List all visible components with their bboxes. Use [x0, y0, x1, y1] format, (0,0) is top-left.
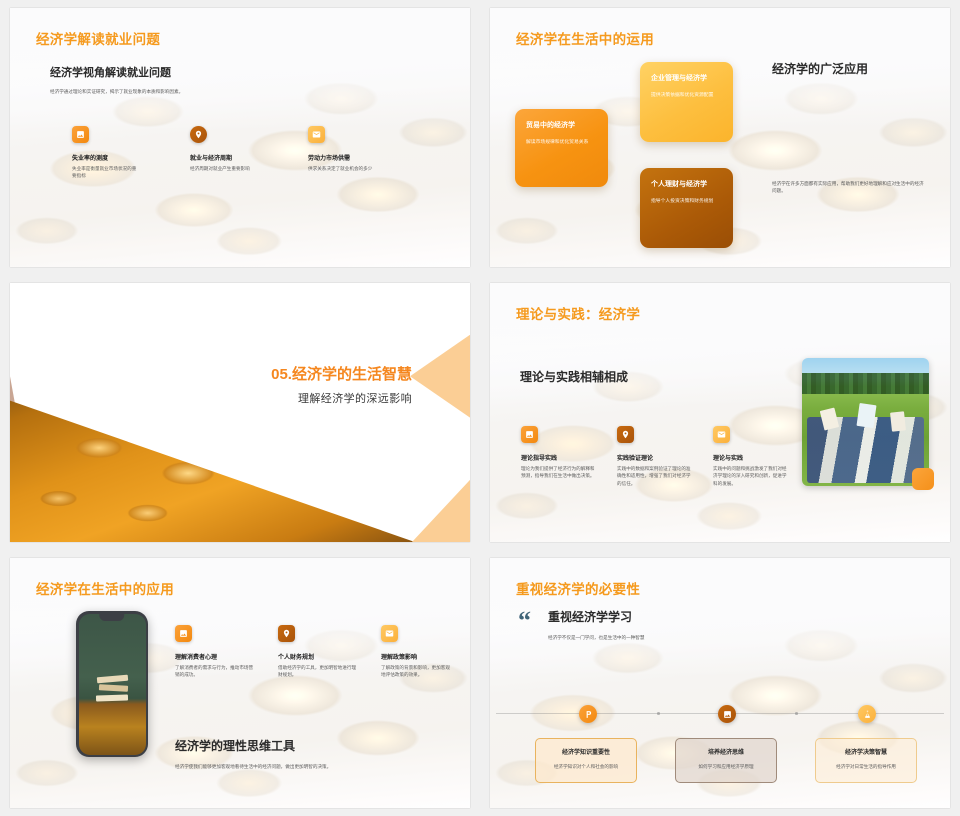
feature-title: 理解政策影响 — [381, 652, 470, 661]
feature-item[interactable]: 理论与实践 实践中的问题和挑战激发了我们对经济学理论的深入研究和创新，促进学科的… — [713, 426, 809, 487]
location-pin-icon — [278, 625, 295, 642]
slide-title: 经济学解读就业问题 — [36, 28, 160, 48]
feature-desc: 了解政策的背景和影响，更加客观地评估政策的效果。 — [381, 664, 453, 679]
card-title: 个人理财与经济学 — [651, 179, 722, 189]
slide-title: 理论与实践：经济学 — [516, 303, 640, 323]
phone-book — [98, 685, 128, 693]
section-number: 05. — [271, 366, 292, 383]
phone-book — [97, 674, 128, 683]
slide-subtext: 经济学通过理论和实证研究，揭示了就业现象的本质和影响因素。 — [50, 88, 183, 95]
envelope-icon — [308, 126, 325, 143]
slide-section-divider[interactable]: 05.经济学的生活智慧 理解经济学的深远影响 — [10, 283, 470, 542]
slide-economics-in-life[interactable]: 经济学在生活中的运用 贸易中的经济学 解读市场规律和优化贸易关系 企业管理与经济… — [490, 8, 950, 267]
slide-heading: 经济学的理性思维工具 — [175, 737, 331, 754]
slide-subtext: 经济学使我们能够更加客观地看待生活中的经济问题，做出更加明智的决策。 — [175, 763, 331, 770]
card-desc: 指导个人投资决策和财务规划 — [651, 198, 722, 206]
students-reading-photo — [802, 358, 929, 486]
slide-applications-in-life[interactable]: 经济学在生活中的应用 理解消费者心理 了解消费者的需求与行为，推动市场营销的成功… — [10, 558, 470, 808]
slide-necessity-of-economics[interactable]: 重视经济学的必要性 “ 重视经济学学习 经济学不仅是一门学问，也是生活中的一种智… — [490, 558, 950, 808]
slide-4-wrapper: 理论与实践：经济学 理论与实践相辅相成 理论指导实践 理论为我们提供了经济行为的… — [480, 275, 960, 550]
feature-desc: 经济周期对就业产生重要影响 — [190, 165, 260, 172]
quote-subtext: 经济学不仅是一门学问，也是生活中的一种智慧 — [548, 634, 644, 641]
right-top-triangle-decoration — [410, 335, 470, 418]
feature-item[interactable]: 理解政策影响 了解政策的背景和影响，更加客观地评估政策的效果。 — [381, 625, 470, 679]
phone-notch — [99, 614, 124, 621]
feature-title: 理论与实践 — [713, 453, 809, 462]
phone-screen — [79, 614, 146, 755]
bottom-card-thinking[interactable]: 培养经济思维 如何学习和应用经济学原理 — [675, 738, 777, 783]
feature-title: 理论指导实践 — [521, 453, 617, 462]
image-icon — [521, 426, 538, 443]
slide-heading: 理论与实践相辅相成 — [520, 368, 628, 385]
feature-desc: 借助经济学的工具，更加明智地进行理财规划。 — [278, 664, 358, 679]
location-pin-icon — [617, 426, 634, 443]
quote-heading: 重视经济学学习 — [548, 608, 644, 625]
envelope-icon — [381, 625, 398, 642]
slide-5-wrapper: 经济学在生活中的应用 理解消费者心理 了解消费者的需求与行为，推动市场营销的成功… — [0, 550, 480, 816]
feature-desc: 实践中的数据和案例验证了理论的准确性和适用性，增强了我们对经济学的信任。 — [617, 465, 692, 487]
envelope-icon — [713, 426, 730, 443]
card-business-management[interactable]: 企业管理与经济学 提供决策依据和优化资源配置 — [640, 62, 733, 142]
divider-title-block: 05.经济学的生活智慧 理解经济学的深远影响 — [271, 363, 412, 406]
feature-desc: 失业率是衡量就业市场状况的重要指标 — [72, 165, 140, 180]
timeline-dot — [795, 712, 798, 715]
slide-5-summary-block: 经济学的理性思维工具 经济学使我们能够更加客观地看待生活中的经济问题，做出更加明… — [175, 737, 331, 770]
feature-desc: 了解消费者的需求与行为，推动市场营销的成功。 — [175, 664, 255, 679]
slide-1-text-block: 经济学视角解读就业问题 经济学通过理论和实证研究，揭示了就业现象的本质和影响因素… — [50, 64, 183, 95]
card-trade-economics[interactable]: 贸易中的经济学 解读市场规律和优化贸易关系 — [515, 109, 608, 187]
photo-book — [856, 403, 876, 428]
feature-title: 理解消费者心理 — [175, 652, 278, 661]
slide-2-wrapper: 经济学在生活中的运用 贸易中的经济学 解读市场规律和优化贸易关系 企业管理与经济… — [480, 0, 960, 275]
image-icon — [72, 126, 89, 143]
feature-item[interactable]: 就业与经济周期 经济周期对就业产生重要影响 — [190, 126, 308, 180]
photo-book — [890, 411, 906, 432]
slide-1-wrapper: 经济学解读就业问题 经济学视角解读就业问题 经济学通过理论和实证研究，揭示了就业… — [0, 0, 480, 275]
feature-desc: 实践中的问题和挑战激发了我们对经济学理论的深入研究和创新，促进学科的发展。 — [713, 465, 788, 487]
card-desc: 提供决策依据和优化资源配置 — [651, 92, 722, 100]
feature-title: 个人财务规划 — [278, 652, 381, 661]
photo-treeline — [802, 373, 929, 393]
slide-employment-economics[interactable]: 经济学解读就业问题 经济学视角解读就业问题 经济学通过理论和实证研究，揭示了就业… — [10, 8, 470, 267]
slide-3-wrapper: 05.经济学的生活智慧 理解经济学的深远影响 — [0, 275, 480, 550]
feature-desc: 理论为我们提供了经济行为的解释和预测，指导我们在生活中做出决策。 — [521, 465, 596, 480]
card-desc: 经济学知识对个人和社会的影响 — [543, 763, 629, 770]
slide-deck: 经济学解读就业问题 经济学视角解读就业问题 经济学通过理论和实证研究，揭示了就业… — [0, 0, 960, 816]
pin-marker-icon — [579, 705, 597, 723]
card-title: 贸易中的经济学 — [526, 120, 597, 130]
feature-item[interactable]: 失业率的测度 失业率是衡量就业市场状况的重要指标 — [72, 126, 190, 180]
divider-title-line: 05.经济学的生活智慧 — [271, 363, 412, 384]
card-title: 企业管理与经济学 — [651, 73, 722, 83]
image-icon — [718, 705, 736, 723]
feature-item[interactable]: 理论指导实践 理论为我们提供了经济行为的解释和预测，指导我们在生活中做出决策。 — [521, 426, 617, 487]
image-icon — [175, 625, 192, 642]
location-pin-icon — [190, 126, 207, 143]
card-title: 培养经济思维 — [683, 747, 769, 756]
quote-block: 重视经济学学习 经济学不仅是一门学问，也是生活中的一种智慧 — [548, 608, 644, 641]
card-title: 经济学知识重要性 — [543, 747, 629, 756]
phone-mockup — [76, 611, 148, 757]
feature-title: 实践验证理论 — [617, 453, 713, 462]
feature-item[interactable]: 实践验证理论 实践中的数据和案例验证了理论的准确性和适用性，增强了我们对经济学的… — [617, 426, 713, 487]
right-bottom-triangle-decoration — [412, 480, 470, 542]
timeline-dot — [657, 712, 660, 715]
slide-theory-and-practice[interactable]: 理论与实践：经济学 理论与实践相辅相成 理论指导实践 理论为我们提供了经济行为的… — [490, 283, 950, 542]
card-desc: 解读市场规律和优化贸易关系 — [526, 139, 597, 147]
card-desc: 经济学对日常生活的指导作用 — [823, 763, 909, 770]
section-subtitle: 理解经济学的深远影响 — [271, 390, 412, 406]
slide-title: 重视经济学的必要性 — [516, 578, 640, 598]
feature-list: 失业率的测度 失业率是衡量就业市场状况的重要指标 就业与经济周期 经济周期对就业… — [72, 126, 426, 180]
phone-book — [96, 695, 128, 702]
slide-heading: 经济学的广泛应用 — [772, 60, 868, 77]
card-personal-finance[interactable]: 个人理财与经济学 指导个人投资决策和财务规划 — [640, 168, 733, 248]
feature-item[interactable]: 劳动力市场供需 供求关系决定了就业机会的多少 — [308, 126, 426, 180]
section-title: 经济学的生活智慧 — [292, 366, 412, 383]
feature-title: 就业与经济周期 — [190, 153, 308, 162]
card-desc: 如何学习和应用经济学原理 — [683, 763, 769, 770]
slide-heading: 经济学视角解读就业问题 — [50, 64, 183, 80]
slide-6-wrapper: 重视经济学的必要性 “ 重视经济学学习 经济学不仅是一门学问，也是生活中的一种智… — [480, 550, 960, 816]
feature-item[interactable]: 个人财务规划 借助经济学的工具，更加明智地进行理财规划。 — [278, 625, 381, 679]
feature-item[interactable]: 理解消费者心理 了解消费者的需求与行为，推动市场营销的成功。 — [175, 625, 278, 679]
bottom-card-decision[interactable]: 经济学决策智慧 经济学对日常生活的指导作用 — [815, 738, 917, 783]
slide-title: 经济学在生活中的应用 — [36, 578, 174, 598]
feature-desc: 供求关系决定了就业机会的多少 — [308, 165, 378, 172]
feature-list: 理解消费者心理 了解消费者的需求与行为，推动市场营销的成功。 个人财务规划 借助… — [175, 625, 470, 679]
orange-square-accent — [912, 468, 934, 490]
feature-list: 理论指导实践 理论为我们提供了经济行为的解释和预测，指导我们在生活中做出决策。 … — [521, 426, 809, 487]
card-title: 经济学决策智慧 — [823, 747, 909, 756]
flask-icon — [858, 705, 876, 723]
bottom-card-knowledge[interactable]: 经济学知识重要性 经济学知识对个人和社会的影响 — [535, 738, 637, 783]
feature-title: 失业率的测度 — [72, 153, 190, 162]
feature-title: 劳动力市场供需 — [308, 153, 426, 162]
quote-icon: “ — [518, 612, 531, 630]
slide-subtext: 经济学在许多方面都有实际应用，帮助我们更好地理解和应对生活中的经济问题。 — [772, 180, 927, 194]
slide-title: 经济学在生活中的运用 — [516, 28, 654, 48]
